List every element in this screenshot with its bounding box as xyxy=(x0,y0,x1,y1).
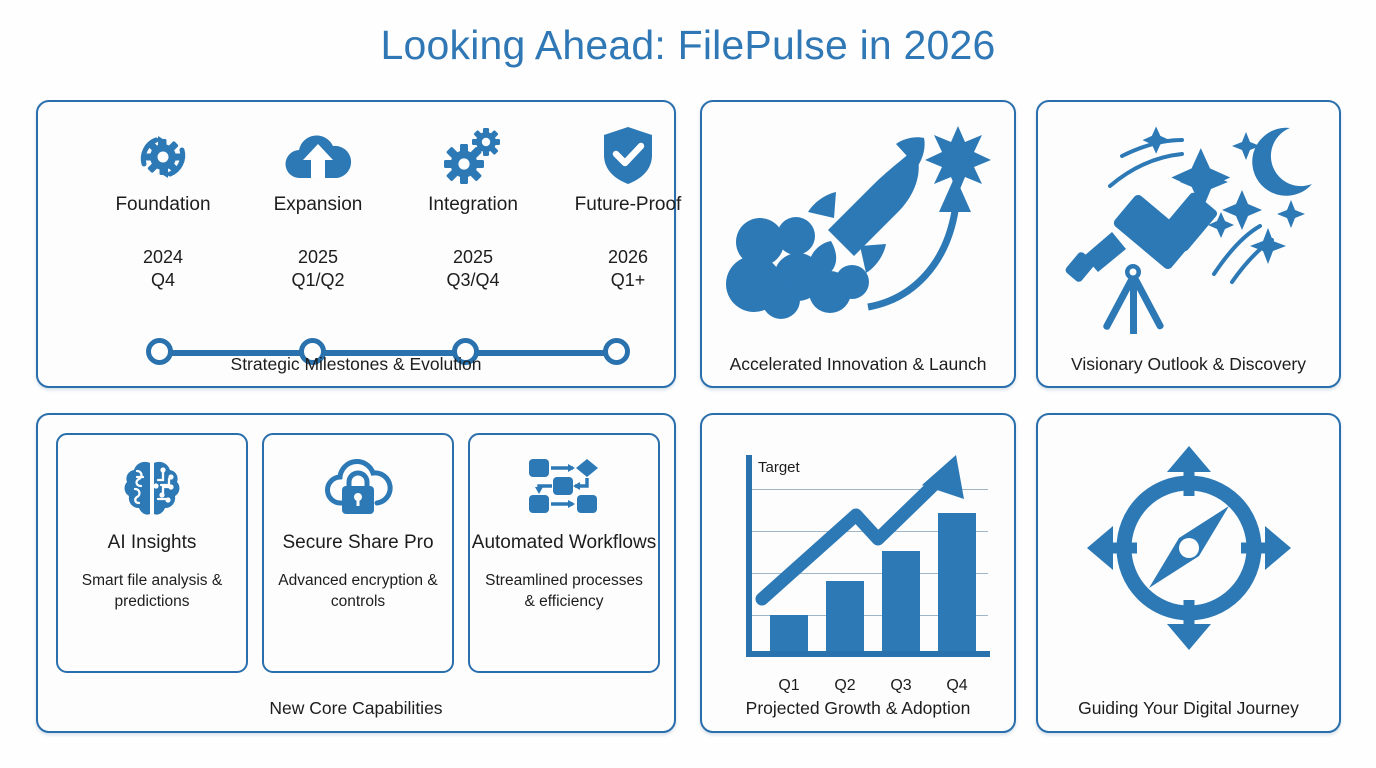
milestone-label: Expansion xyxy=(243,194,393,216)
capability-card-automated-workflows[interactable]: Automated Workflows Streamlined processe… xyxy=(468,433,660,673)
telescope-stars-icon xyxy=(1038,110,1339,338)
milestone-expansion[interactable]: Expansion 2025 Q1/Q2 xyxy=(243,124,393,291)
milestone-future-proof[interactable]: Future-Proof 2026 Q1+ xyxy=(553,124,703,291)
cloud-upload-icon xyxy=(243,124,393,186)
milestone-date: 2025 Q3/Q4 xyxy=(398,246,548,291)
milestone-integration[interactable]: Integration 2025 Q3/Q4 xyxy=(398,124,548,291)
panel-projected-growth[interactable]: Q1 Q2 Q3 Q4 Target Projected Growth & Ad… xyxy=(700,413,1016,733)
panel-caption: Accelerated Innovation & Launch xyxy=(702,354,1014,375)
infographic-canvas: Looking Ahead: FilePulse in 2026 xyxy=(0,0,1376,768)
bar-q1[interactable] xyxy=(770,615,808,651)
capability-title: AI Insights xyxy=(108,532,197,555)
panel-caption: Strategic Milestones & Evolution xyxy=(38,354,674,375)
chart-tick-label: Q4 xyxy=(938,677,976,695)
chart-tick-label: Q3 xyxy=(882,677,920,695)
panel-new-core-capabilities[interactable]: AI Insights Smart file analysis & predic… xyxy=(36,413,676,733)
bar-q3[interactable] xyxy=(882,551,920,651)
panel-caption: New Core Capabilities xyxy=(38,698,674,719)
bar-q2[interactable] xyxy=(826,581,864,651)
gear-sync-icon xyxy=(88,124,238,186)
capability-card-row: AI Insights Smart file analysis & predic… xyxy=(56,433,660,673)
workflow-diagram-icon xyxy=(525,453,603,519)
page-title: Looking Ahead: FilePulse in 2026 xyxy=(0,22,1376,69)
gears-icon xyxy=(398,124,548,186)
capability-title: Secure Share Pro xyxy=(282,532,433,555)
bar-q4[interactable] xyxy=(938,513,976,651)
capability-description: Smart file analysis & predictions xyxy=(58,571,246,613)
panel-caption: Guiding Your Digital Journey xyxy=(1038,698,1339,719)
chart-target-label: Target xyxy=(758,459,800,476)
milestone-date: 2025 Q1/Q2 xyxy=(243,246,393,291)
capability-title: Automated Workflows xyxy=(472,532,656,555)
milestone-foundation[interactable]: Foundation 2024 Q4 xyxy=(88,124,238,291)
panel-guiding-journey[interactable]: Guiding Your Digital Journey xyxy=(1036,413,1341,733)
capability-card-ai-insights[interactable]: AI Insights Smart file analysis & predic… xyxy=(56,433,248,673)
chart-tick-label: Q2 xyxy=(826,677,864,695)
shield-check-icon xyxy=(553,124,703,186)
panel-caption: Projected Growth & Adoption xyxy=(702,698,1014,719)
capability-description: Streamlined processes & efficiency xyxy=(470,571,658,613)
chart-tick-label: Q1 xyxy=(770,677,808,695)
milestone-label: Future-Proof xyxy=(553,194,703,216)
panel-strategic-milestones[interactable]: Foundation 2024 Q4 Expansion 2025 Q1/Q2 xyxy=(36,100,676,388)
cloud-lock-icon xyxy=(319,453,397,519)
panel-caption: Visionary Outlook & Discovery xyxy=(1038,354,1339,375)
milestone-date: 2024 Q4 xyxy=(88,246,238,291)
capability-card-secure-share-pro[interactable]: Secure Share Pro Advanced encryption & c… xyxy=(262,433,454,673)
brain-circuit-icon xyxy=(121,453,183,519)
rocket-launch-icon xyxy=(702,110,1014,338)
milestone-label: Integration xyxy=(398,194,548,216)
panel-accelerated-innovation[interactable]: Accelerated Innovation & Launch xyxy=(700,100,1016,388)
milestone-date: 2026 Q1+ xyxy=(553,246,703,291)
panel-visionary-outlook[interactable]: Visionary Outlook & Discovery xyxy=(1036,100,1341,388)
growth-bar-chart: Q1 Q2 Q3 Q4 Target xyxy=(732,437,990,669)
capability-description: Advanced encryption & controls xyxy=(264,571,452,613)
milestone-label: Foundation xyxy=(88,194,238,216)
compass-arrows-icon xyxy=(1038,419,1339,677)
